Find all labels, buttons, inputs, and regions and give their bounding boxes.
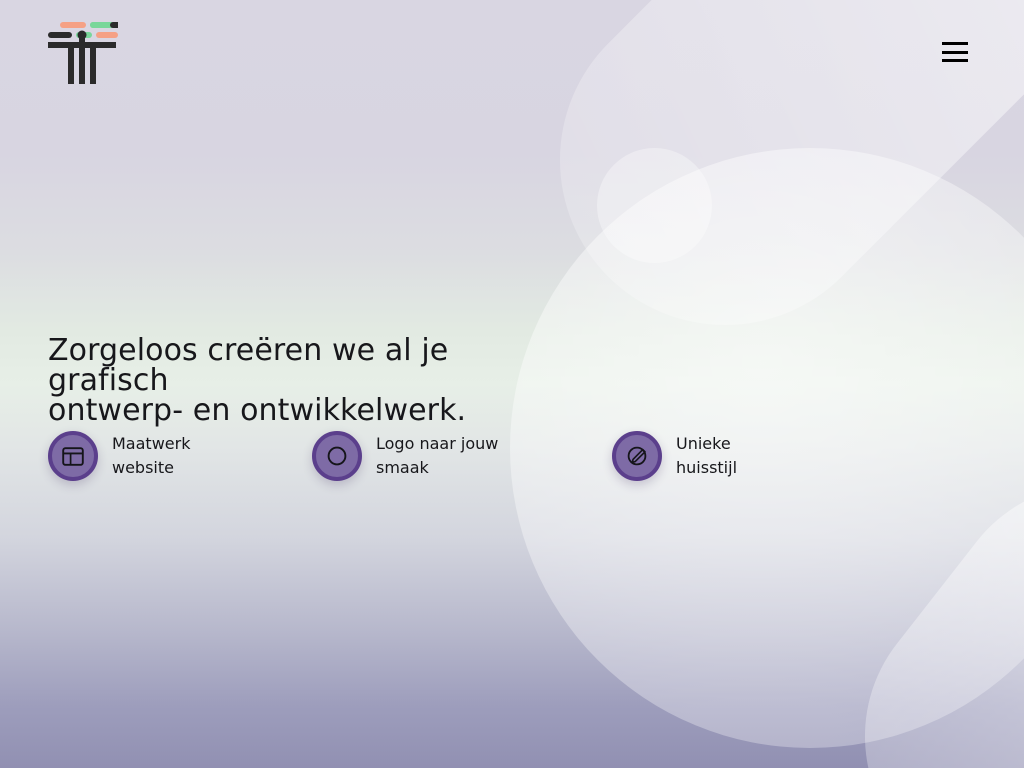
browser-window-icon	[48, 431, 98, 481]
circle-outline-icon	[312, 431, 362, 481]
page-root: Zorgeloos creëren we al je grafisch ontw…	[0, 0, 1024, 768]
hamburger-line	[942, 51, 968, 54]
page-title-line-1: Zorgeloos creëren we al je grafisch	[48, 336, 568, 396]
logo[interactable]	[46, 18, 118, 86]
hamburger-line	[942, 42, 968, 45]
feature-list: Maatwerk website Logo naar jouw smaak Un…	[48, 431, 948, 481]
page-title: Zorgeloos creëren we al je grafisch ontw…	[48, 336, 568, 426]
page-title-line-2: ontwerp- en ontwikkelwerk.	[48, 396, 568, 426]
feature-item-unieke-huisstijl[interactable]: Unieke huisstijl	[612, 431, 912, 481]
hero-section: Zorgeloos creëren we al je grafisch ontw…	[48, 336, 978, 426]
site-header	[0, 0, 1024, 104]
decorative-small-circle	[597, 148, 712, 263]
hamburger-line	[942, 59, 968, 62]
feature-label: Logo naar jouw smaak	[376, 432, 498, 481]
pen-circle-icon	[612, 431, 662, 481]
feature-label: Maatwerk website	[112, 432, 190, 481]
hamburger-menu-icon[interactable]	[942, 42, 968, 62]
feature-label: Unieke huisstijl	[676, 432, 737, 481]
feature-item-logo-naar-jouw-smaak[interactable]: Logo naar jouw smaak	[312, 431, 612, 481]
feature-item-maatwerk-website[interactable]: Maatwerk website	[48, 431, 312, 481]
